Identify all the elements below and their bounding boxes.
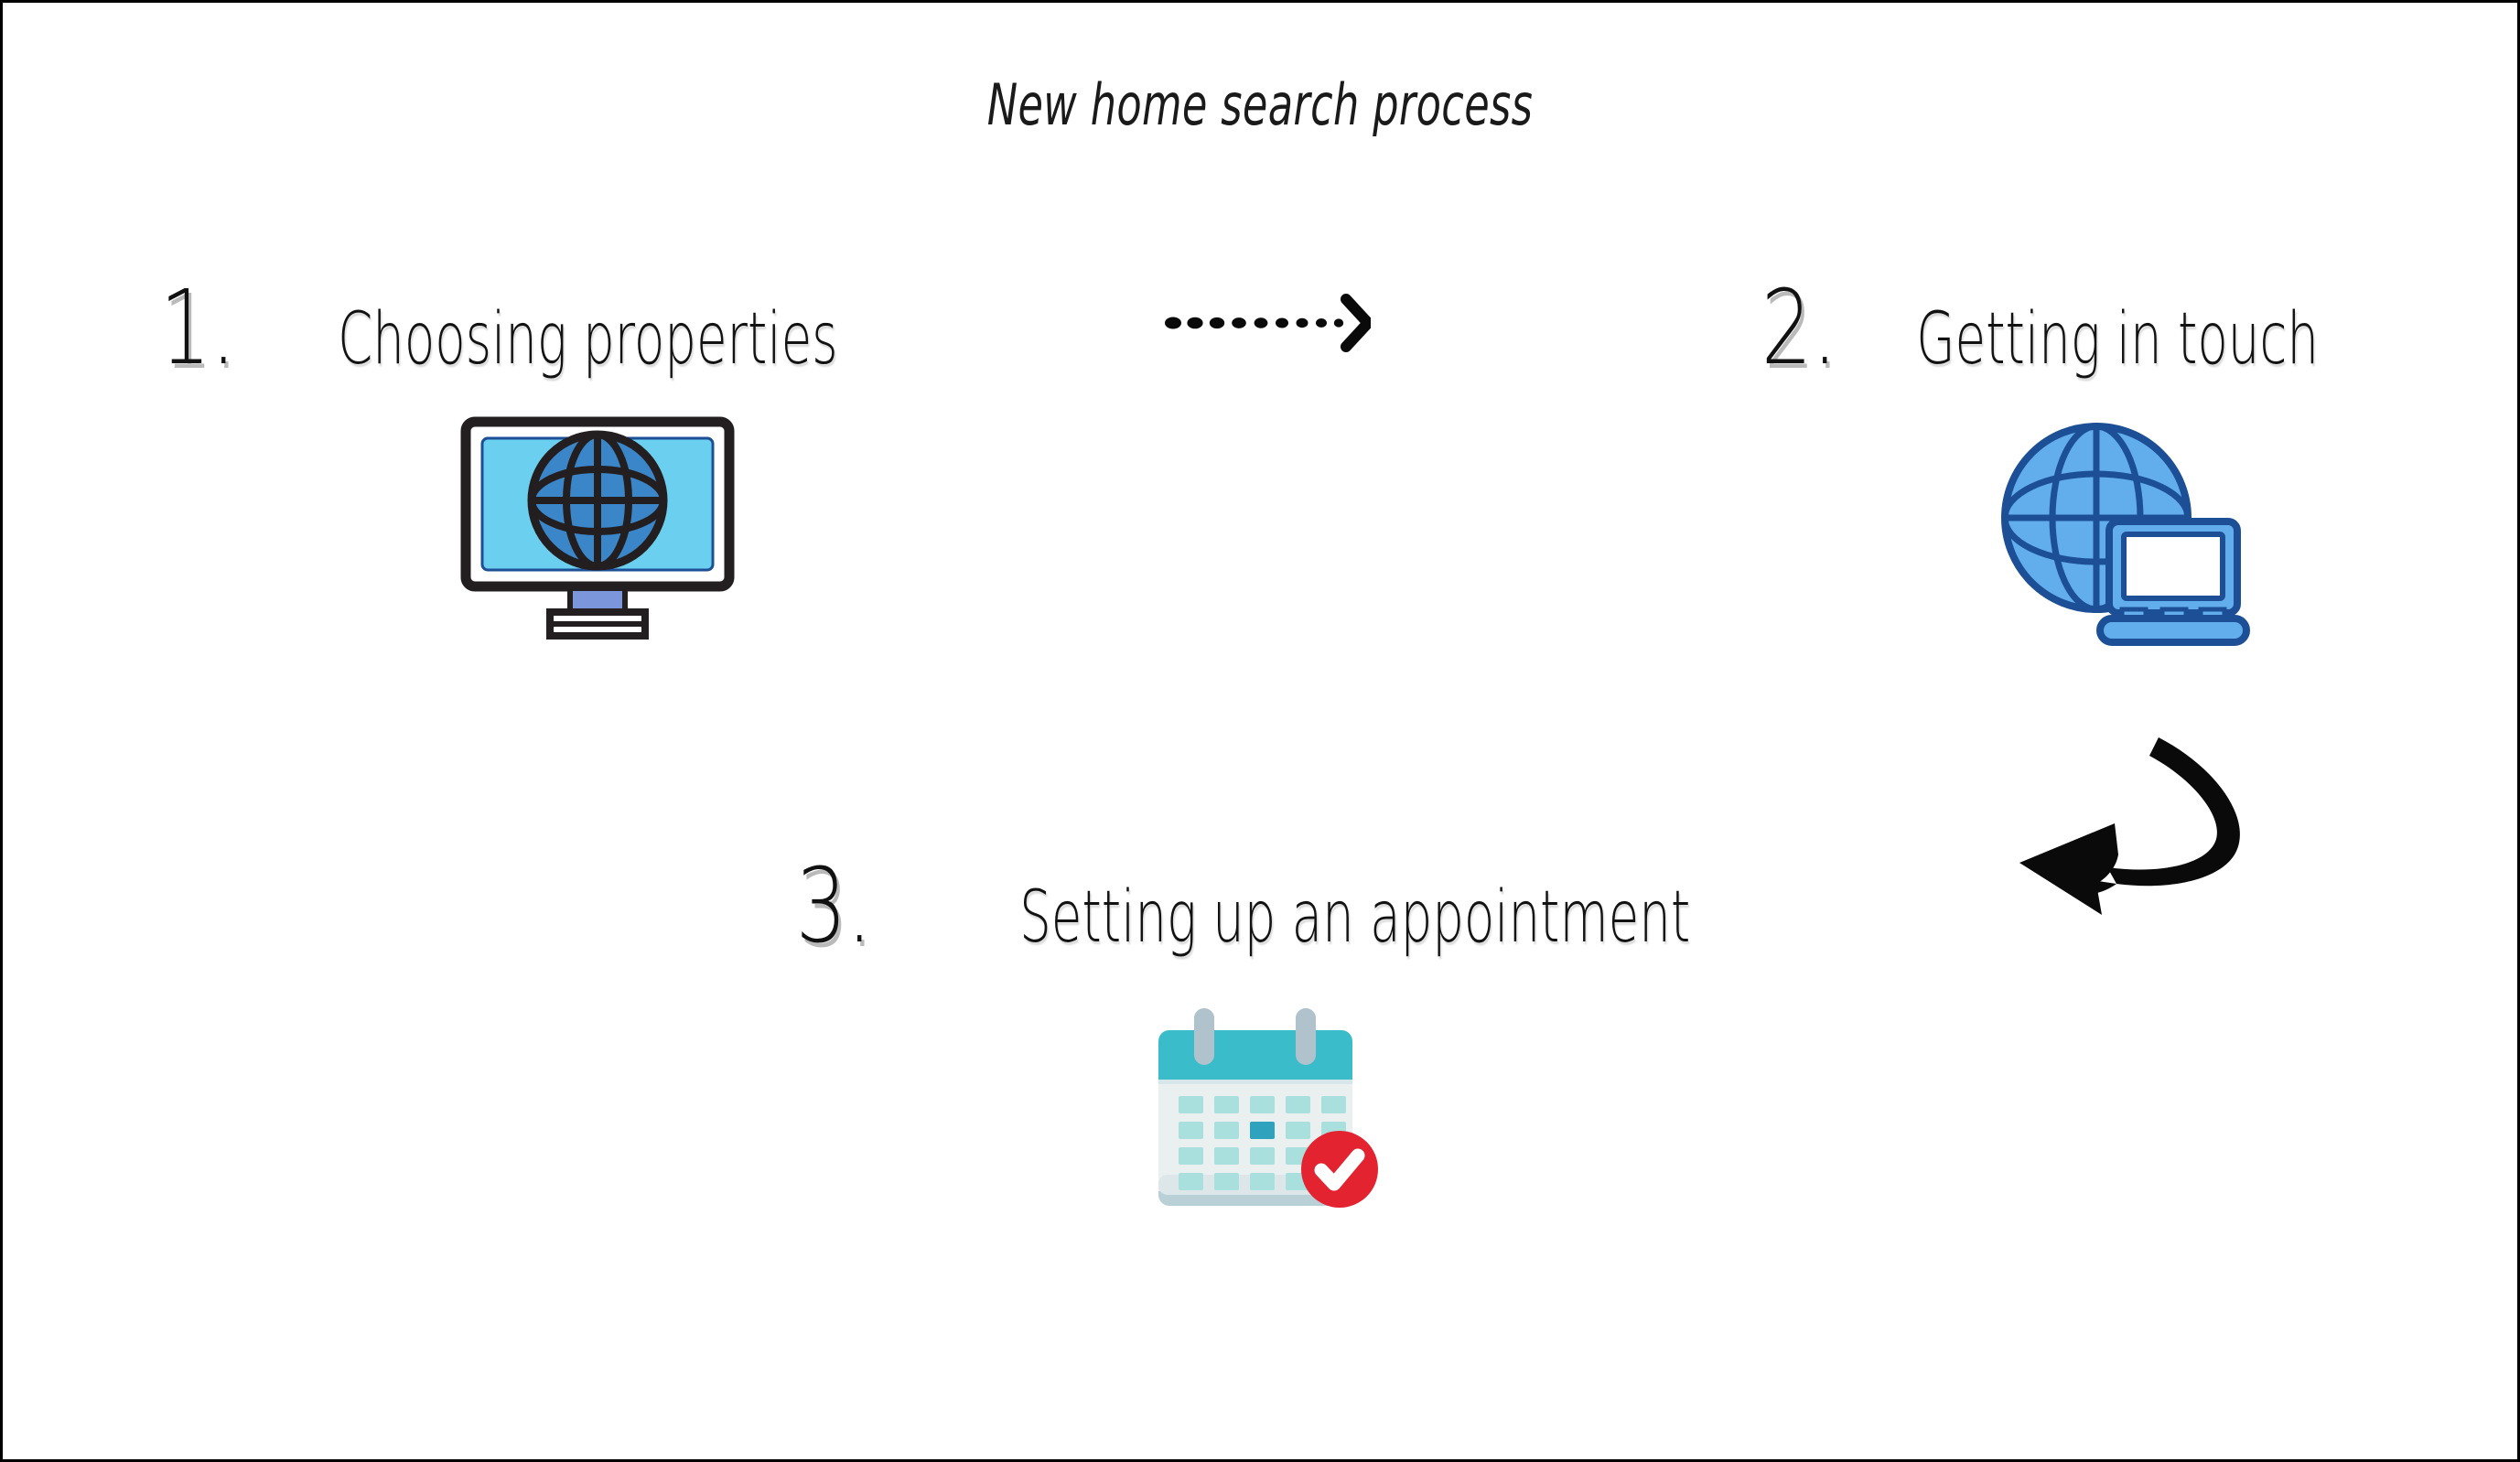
step-1-label: Choosing properties	[338, 304, 838, 375]
monitor-globe-svg	[460, 413, 735, 646]
globe-laptop-svg	[1988, 419, 2254, 652]
monitor-globe-icon	[460, 413, 735, 646]
dotted-arrow-icon	[1160, 282, 1371, 364]
step-1-heading: 1. Choosing properties	[149, 277, 945, 380]
step-3-label: Setting up an appointment	[1019, 882, 1690, 953]
step-3-number: 3.	[796, 855, 872, 958]
step-3-heading: 3. Setting up an appointment	[785, 855, 1834, 958]
dotted-arrow-svg	[1160, 282, 1371, 364]
globe-laptop-icon	[1988, 419, 2254, 652]
step-2-heading: 2. Getting in touch	[1750, 277, 2405, 380]
calendar-check-svg	[1142, 1005, 1389, 1229]
page-title: New home search process	[355, 71, 2166, 138]
step-2-number: 2.	[1761, 277, 1837, 380]
step-2-label: Getting in touch	[1916, 304, 2319, 375]
curved-arrow-icon	[1979, 721, 2254, 936]
calendar-check-icon	[1142, 1005, 1389, 1229]
step-1-number: 1.	[160, 277, 236, 380]
slide-canvas: New home search process 1. Choosing prop…	[0, 0, 2520, 1462]
curved-arrow-svg	[1979, 721, 2254, 936]
